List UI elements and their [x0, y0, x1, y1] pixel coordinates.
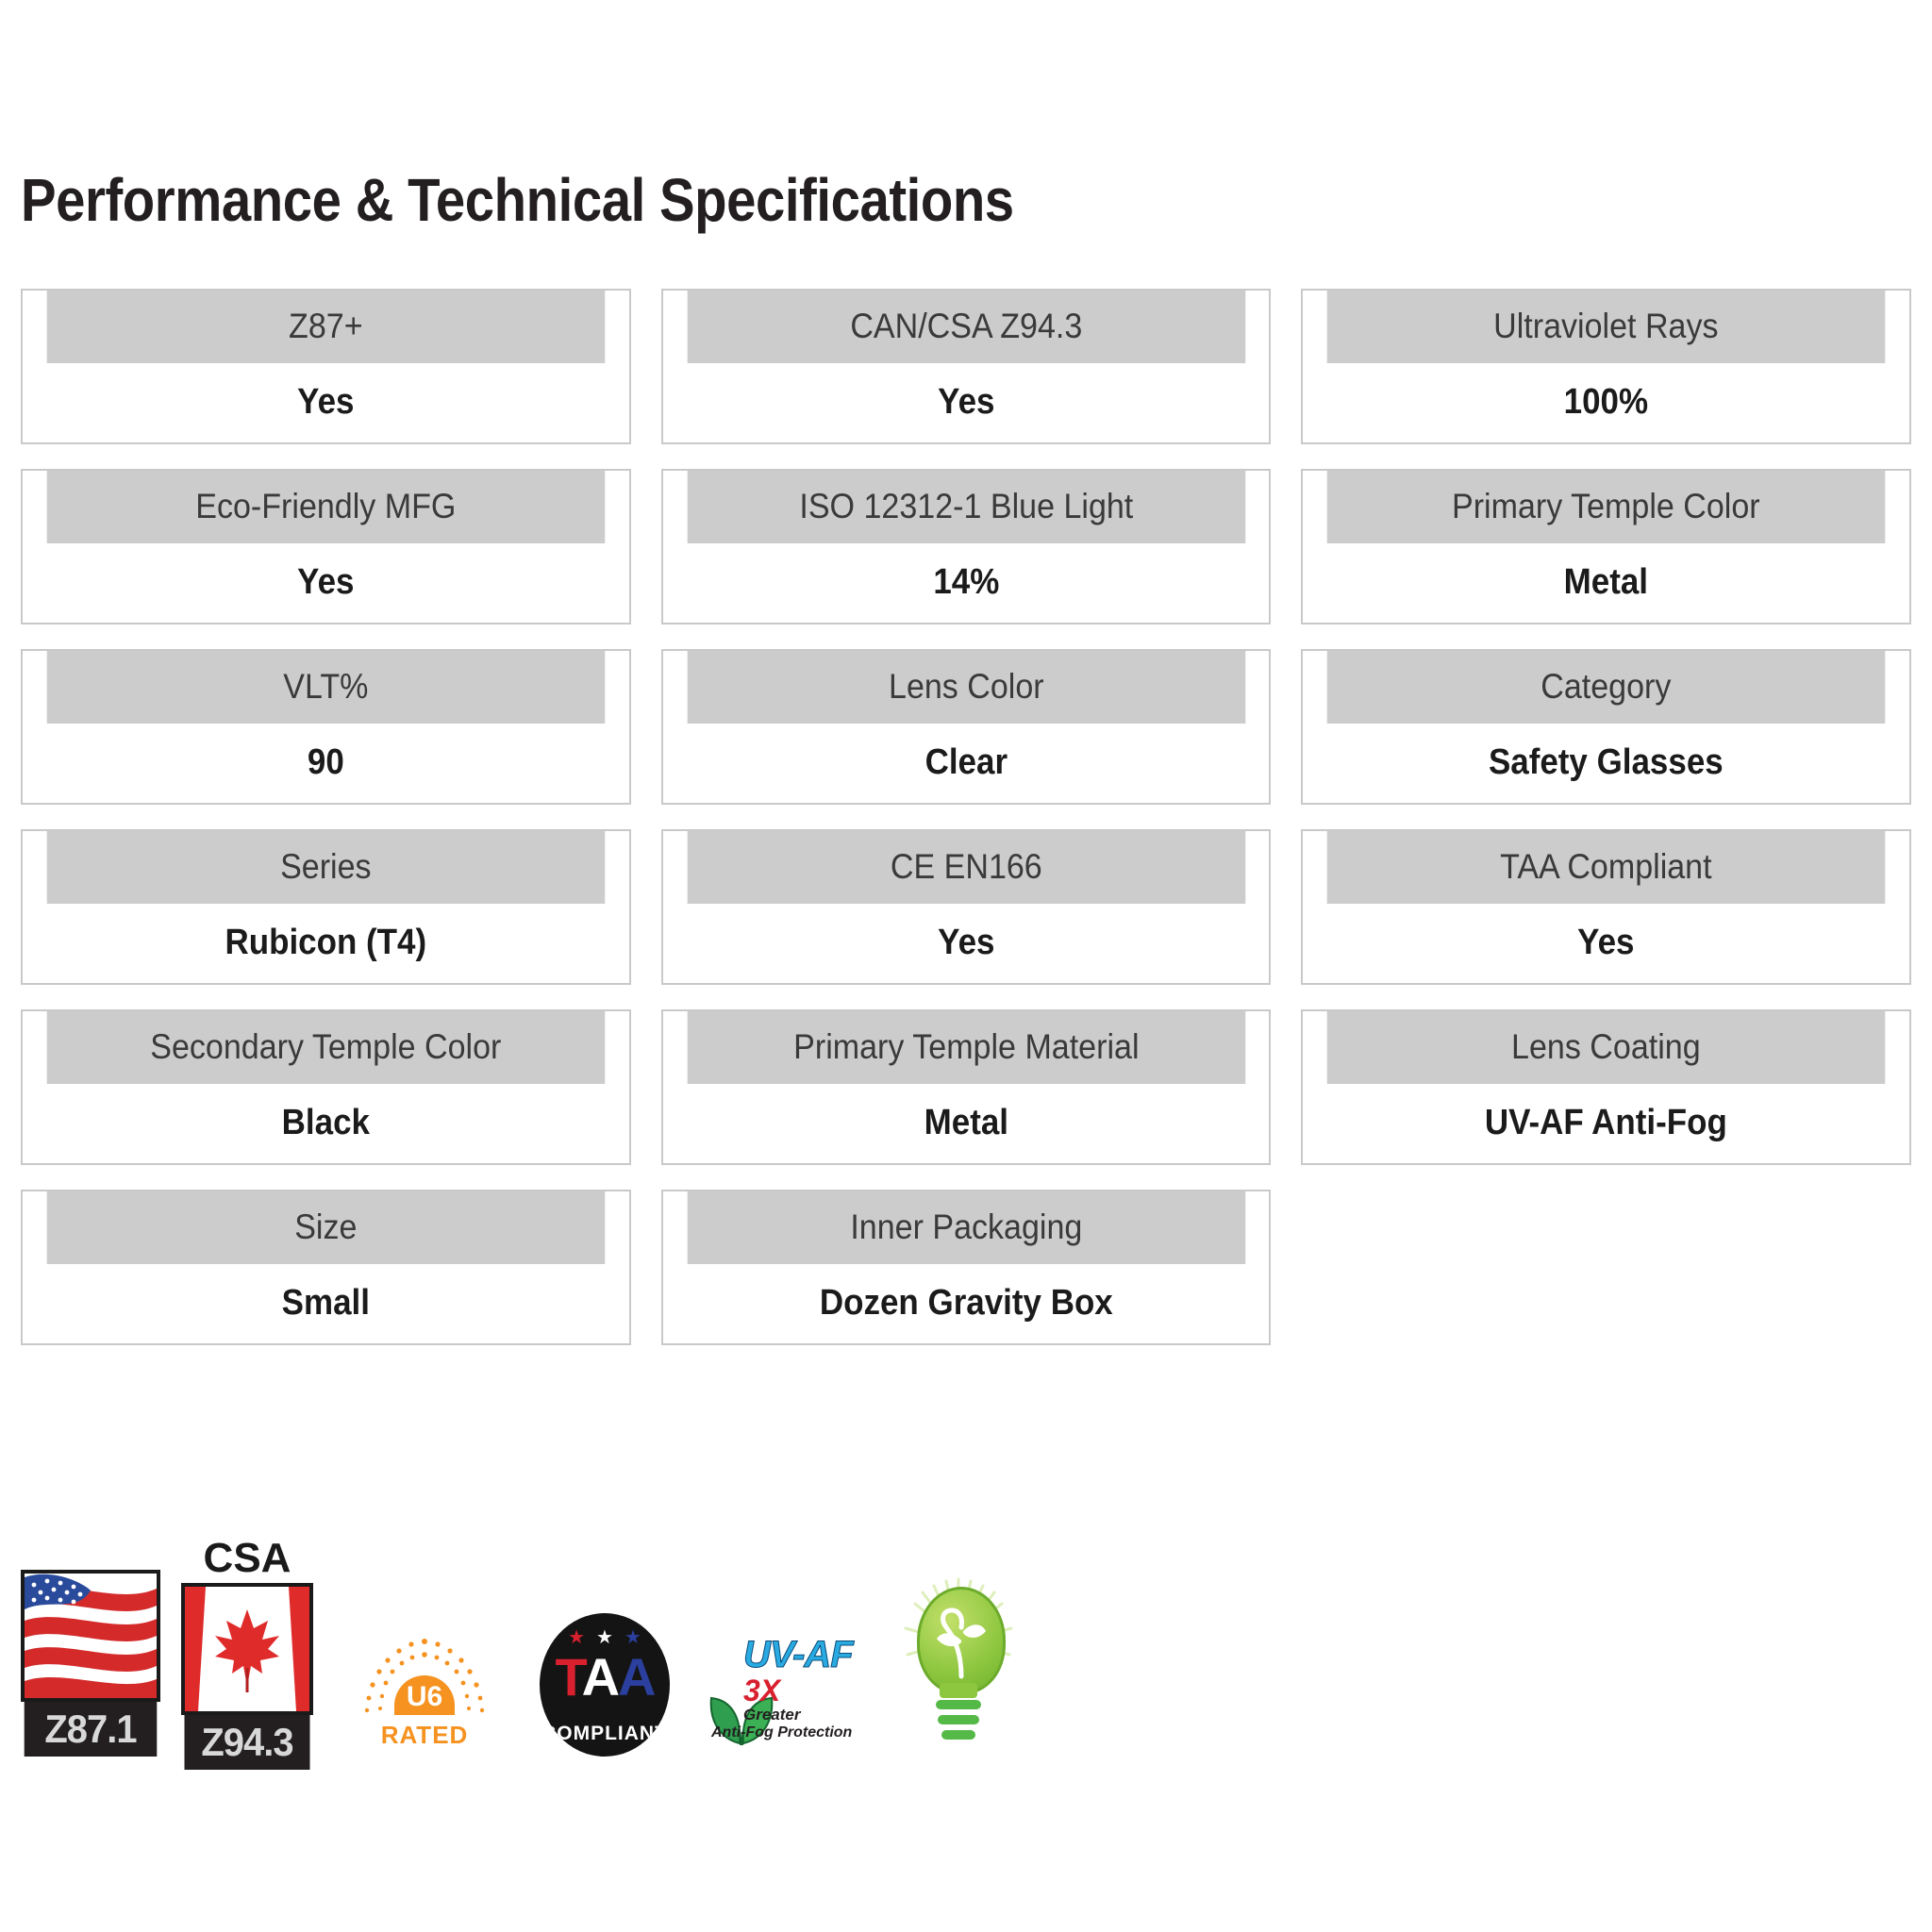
u6-mark-text: U6: [394, 1675, 455, 1719]
spec-label: ISO 12312-1 Blue Light: [687, 471, 1244, 543]
spec-label: CAN/CSA Z94.3: [687, 291, 1244, 363]
spec-card: VLT% 90: [21, 649, 631, 805]
spec-value: Metal: [687, 1084, 1244, 1163]
taa-stars-icon: ★★★: [540, 1628, 670, 1647]
bulb-ring-icon: [936, 1700, 981, 1709]
page-title: Performance & Technical Specifications: [21, 0, 1685, 230]
spec-value: Yes: [47, 363, 605, 442]
spec-label: Primary Temple Material: [687, 1011, 1244, 1084]
csa-badge-word: CSA: [181, 1538, 313, 1579]
spec-card: Size Small: [21, 1190, 631, 1345]
spec-value: Metal: [1327, 543, 1885, 623]
spec-label: Series: [47, 831, 605, 904]
taa-oval-icon: ★★★ TAA COMPLIANT: [540, 1613, 670, 1757]
specifications-page: Performance & Technical Specifications Z…: [0, 0, 1932, 1932]
spec-card: Primary Temple Material Metal: [661, 1009, 1272, 1165]
bulb-ring-icon: [941, 1730, 975, 1740]
bulb-ring-icon: [938, 1715, 979, 1724]
spec-card: CAN/CSA Z94.3 Yes: [661, 289, 1272, 444]
spec-label: Inner Packaging: [687, 1191, 1244, 1264]
u6-rated-label: RATED: [358, 1723, 491, 1747]
spec-value: 14%: [687, 543, 1244, 623]
taa-compliant-badge: ★★★ TAA COMPLIANT: [540, 1613, 670, 1757]
spec-value: Yes: [687, 363, 1244, 442]
spec-value: 100%: [1327, 363, 1885, 442]
spec-value: Yes: [47, 543, 605, 623]
canada-flag-icon: [181, 1583, 313, 1715]
spec-card: TAA Compliant Yes: [1301, 829, 1911, 985]
spec-card: Category Safety Glasses: [1301, 649, 1911, 805]
spec-label: Ultraviolet Rays: [1327, 291, 1885, 363]
spec-value: Yes: [1327, 904, 1885, 983]
uvaf-main-label: UV-AF: [743, 1636, 858, 1674]
spec-card-empty: [1301, 1190, 1911, 1345]
spec-card: CE EN166 Yes: [661, 829, 1272, 985]
uvaf-sub-label: Anti-Fog Protection: [711, 1725, 858, 1740]
spec-value: Safety Glasses: [1327, 724, 1885, 803]
spec-label: Lens Coating: [1327, 1011, 1885, 1084]
spec-value: Rubicon (T4): [47, 904, 605, 983]
spec-card: Lens Color Clear: [661, 649, 1272, 805]
bulb-neck-icon: [940, 1683, 977, 1698]
spec-card: ISO 12312-1 Blue Light 14%: [661, 469, 1272, 625]
spec-label: CE EN166: [687, 831, 1244, 904]
uv-af-anti-fog-badge: UV-AF 3X Greater Anti-Fog Protection: [708, 1615, 858, 1757]
spec-value: Clear: [687, 724, 1244, 803]
spec-label: TAA Compliant: [1327, 831, 1885, 904]
spec-value: Dozen Gravity Box: [687, 1264, 1244, 1343]
u6-rated-badge: U6 RATED: [358, 1634, 491, 1757]
taa-letters: TAA: [540, 1651, 670, 1704]
spec-card: Z87+ Yes: [21, 289, 631, 444]
csa-z94-3-badge: CSA Z94.3: [181, 1538, 313, 1757]
uvaf-text-block: UV-AF 3X Greater Anti-Fog Protection: [743, 1636, 858, 1740]
spec-value: 90: [47, 724, 605, 803]
spec-value: Small: [47, 1264, 605, 1343]
taa-compliant-label: COMPLIANT: [540, 1724, 670, 1743]
spec-label: Size: [47, 1191, 605, 1264]
spec-value: Yes: [687, 904, 1244, 983]
specifications-grid: Z87+ Yes CAN/CSA Z94.3 Yes Ultraviolet R…: [21, 289, 1911, 1345]
spec-label: Category: [1327, 651, 1885, 724]
uvaf-greater-label: Greater: [743, 1707, 858, 1724]
us-flag-icon: [21, 1570, 160, 1702]
sun-rays-icon: U6: [358, 1634, 491, 1721]
spec-card: Lens Coating UV-AF Anti-Fog: [1301, 1009, 1911, 1165]
spec-value: UV-AF Anti-Fog: [1327, 1084, 1885, 1163]
u6-mark: U6: [394, 1675, 455, 1715]
spec-label: Secondary Temple Color: [47, 1011, 605, 1084]
bulb-glass-icon: [917, 1587, 1006, 1694]
certification-badge-strip: Z87.1 CSA Z94.3: [21, 1521, 1341, 1757]
spec-card: Inner Packaging Dozen Gravity Box: [661, 1190, 1272, 1345]
csa-badge-label: Z94.3: [185, 1715, 310, 1770]
spec-card: Secondary Temple Color Black: [21, 1009, 631, 1165]
spec-label: Primary Temple Color: [1327, 471, 1885, 543]
ansi-z87-1-badge: Z87.1: [21, 1570, 160, 1757]
spec-card: Ultraviolet Rays 100%: [1301, 289, 1911, 444]
spec-card: Primary Temple Color Metal: [1301, 469, 1911, 625]
spec-label: Lens Color: [687, 651, 1244, 724]
spec-label: VLT%: [47, 651, 605, 724]
spec-label: Eco-Friendly MFG: [47, 471, 605, 543]
eco-friendly-bulb-badge: [902, 1577, 1015, 1757]
spec-value: Black: [47, 1084, 605, 1163]
spec-card: Series Rubicon (T4): [21, 829, 631, 985]
spec-label: Z87+: [47, 291, 605, 363]
uvaf-multiplier-label: 3X: [743, 1675, 858, 1706]
spec-card: Eco-Friendly MFG Yes: [21, 469, 631, 625]
ansi-badge-label: Z87.1: [25, 1702, 158, 1757]
